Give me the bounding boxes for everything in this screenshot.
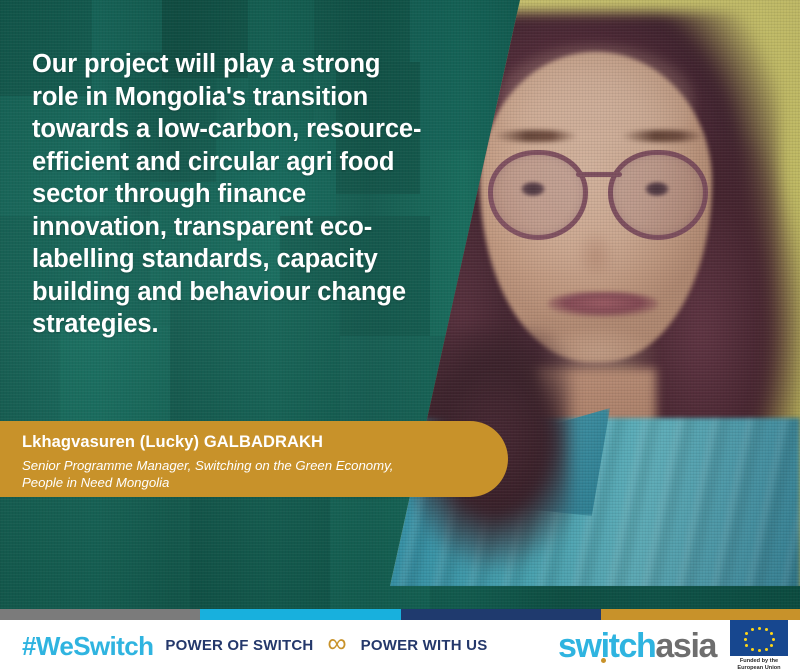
quote-text: Our project will play a strong role in M… <box>32 48 432 341</box>
switchasia-logo-switch: switch <box>558 627 655 665</box>
speaker-name: Lkhagvasuren (Lucky) GALBADRAKH <box>22 433 488 453</box>
eu-funding-logo: Funded by the European Union <box>730 620 788 671</box>
photo-glasses-lens-left <box>488 150 588 240</box>
infinity-icon: ∞ <box>327 630 346 657</box>
quote-card: Our project will play a strong role in M… <box>0 0 800 671</box>
eu-stars <box>730 620 788 656</box>
photo-glasses-bridge <box>576 172 622 177</box>
photo-eyebrow-left <box>492 130 578 142</box>
footer-logo-group: switchasia <box>558 620 800 671</box>
weswitch-hashtag: #WeSwitch <box>22 633 153 659</box>
stripe-segment-cyan <box>200 609 401 620</box>
eu-flag-icon <box>730 620 788 656</box>
speaker-role: Senior Programme Manager, Switching on t… <box>22 458 488 492</box>
photo-glasses-lens-right <box>608 150 708 240</box>
attribution-badge: Lkhagvasuren (Lucky) GALBADRAKH Senior P… <box>0 421 508 497</box>
switchasia-logo-dot <box>601 658 606 663</box>
footer-bar: #WeSwitch POWER OF SWITCH ∞ POWER WITH U… <box>0 620 800 671</box>
power-of-switch-label: POWER OF SWITCH <box>165 638 313 653</box>
photo-eyebrow-right <box>620 130 706 142</box>
stripe-segment-gray <box>0 609 200 620</box>
photo-mouth <box>548 292 658 318</box>
switchasia-logo-asia: asia <box>655 627 716 665</box>
color-stripe <box>0 609 800 620</box>
photo-nose <box>576 214 620 274</box>
stripe-segment-gold <box>601 609 800 620</box>
stripe-segment-navy <box>401 609 601 620</box>
footer-campaign-group: #WeSwitch POWER OF SWITCH ∞ POWER WITH U… <box>0 633 487 659</box>
eu-funding-caption: Funded by the European Union <box>730 658 788 671</box>
switchasia-logo: switchasia <box>558 629 716 663</box>
power-with-us-label: POWER WITH US <box>361 638 488 653</box>
